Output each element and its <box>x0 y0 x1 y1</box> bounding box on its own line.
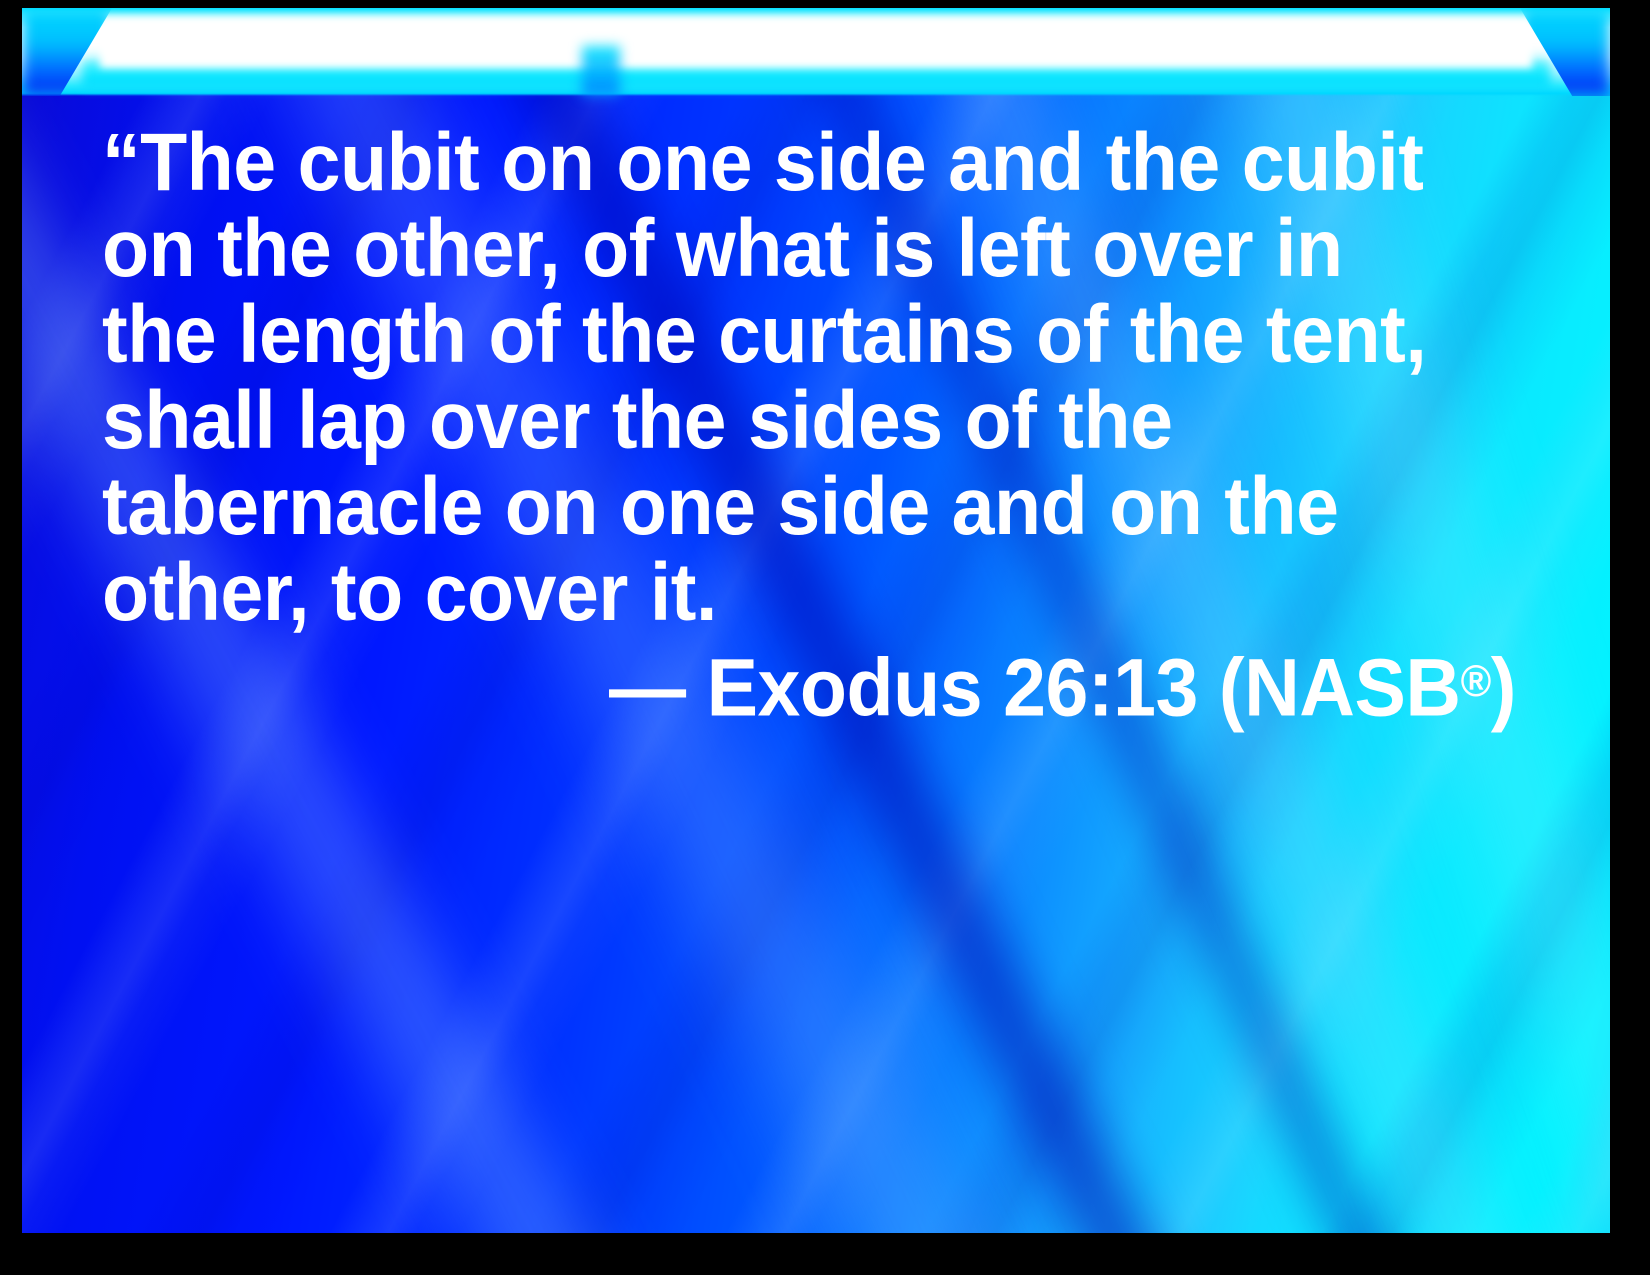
verse-text-block: “The cubit on one side and the cubit on … <box>22 8 1610 732</box>
verse-slide: “The cubit on one side and the cubit on … <box>0 0 1650 1275</box>
reference-book: Exodus <box>707 642 983 733</box>
reference-translation-close: ) <box>1491 642 1516 733</box>
reference-em-dash: — <box>609 642 686 733</box>
verse-body-text: “The cubit on one side and the cubit on … <box>102 120 1431 636</box>
slide-canvas: “The cubit on one side and the cubit on … <box>22 8 1610 1233</box>
reference-chapter-verse: 26:13 <box>1003 642 1198 733</box>
verse-reference: — Exodus 26:13 (NASB®) <box>187 636 1516 732</box>
registered-trademark-icon: ® <box>1461 657 1491 706</box>
reference-translation-open: (NASB <box>1219 642 1461 733</box>
